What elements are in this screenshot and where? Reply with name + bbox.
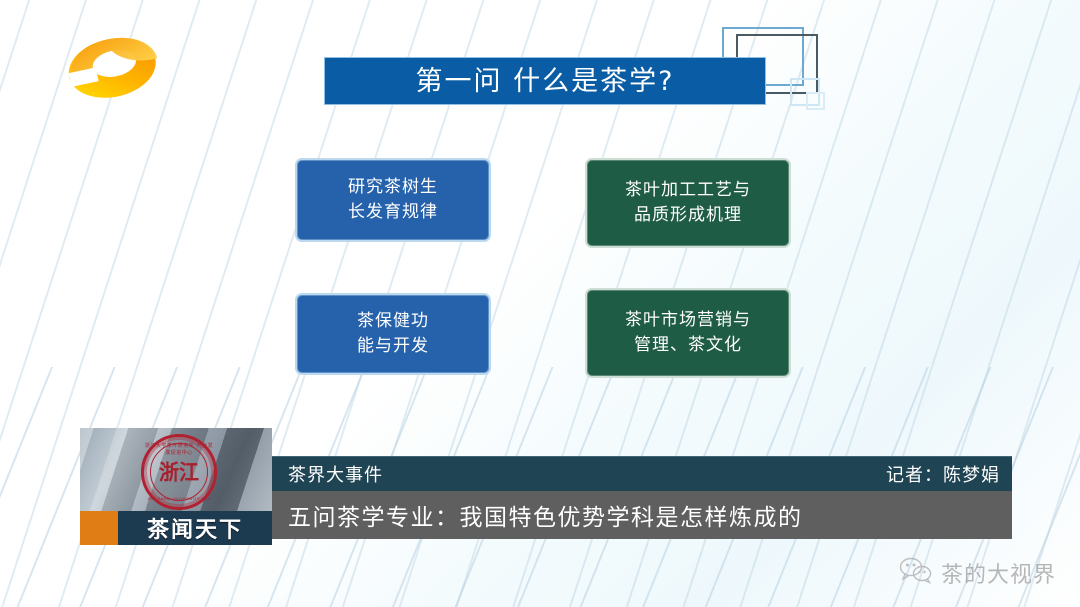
news-lower-third: 浙江大学茶叶研究所·产业发展促进中心 浙江 ZHEJIANG UNIVERSIT… <box>80 428 1012 546</box>
red-seal-stamp: 浙江大学茶叶研究所·产业发展促进中心 浙江 ZHEJIANG UNIVERSIT… <box>141 434 217 510</box>
wechat-icon <box>899 556 933 589</box>
news-headline-bar: 五问茶学专业：我国特色优势学科是怎样炼成的 <box>272 491 1012 539</box>
watermark-text: 茶的大视界 <box>941 557 1056 589</box>
news-category-label: 茶界大事件 <box>288 461 383 487</box>
news-category-bar: 茶界大事件 记者：陈梦娟 <box>272 456 1012 491</box>
slide-canvas: 第一问 什么是茶学? 研究茶树生 长发育规律 茶叶加工工艺与 品质形成机理 茶保… <box>0 0 1080 607</box>
wechat-watermark: 茶的大视界 <box>899 556 1056 589</box>
topic-box-processing-quality: 茶叶加工工艺与 品质形成机理 <box>585 158 791 248</box>
program-name-bar: 茶闻天下 <box>118 511 272 545</box>
seal-bottom-text: ZHEJIANG UNIVERSITY TEA <box>144 496 214 501</box>
topic-box-label: 研究茶树生 长发育规律 <box>342 175 444 224</box>
program-name-label: 茶闻天下 <box>147 512 243 544</box>
topic-box-label: 茶保健功 能与开发 <box>351 309 435 358</box>
topic-box-marketing-culture: 茶叶市场营销与 管理、茶文化 <box>585 288 791 378</box>
page-title: 第一问 什么是茶学? <box>416 68 675 95</box>
seal-inner-ring: 浙江 <box>150 443 208 501</box>
news-program-logo: 浙江大学茶叶研究所·产业发展促进中心 浙江 ZHEJIANG UNIVERSIT… <box>80 428 272 545</box>
topic-box-label: 茶叶加工工艺与 品质形成机理 <box>619 178 757 227</box>
topic-box-health-function: 茶保健功 能与开发 <box>295 293 491 375</box>
topic-box-label: 茶叶市场营销与 管理、茶文化 <box>619 308 757 357</box>
seal-text: 浙江 <box>159 462 199 483</box>
news-reporter-label: 记者：陈梦娟 <box>886 461 1000 487</box>
decorative-square-small <box>790 78 820 106</box>
slide-title-banner: 第一问 什么是茶学? <box>325 58 765 104</box>
university-swoosh-logo <box>56 24 168 110</box>
news-headline-label: 五问茶学专业：我国特色优势学科是怎样炼成的 <box>288 498 803 532</box>
news-text-block: 茶界大事件 记者：陈梦娟 五问茶学专业：我国特色优势学科是怎样炼成的 <box>272 456 1012 546</box>
topic-box-research-tea-plant: 研究茶树生 长发育规律 <box>295 158 491 242</box>
orange-accent-block <box>80 511 118 545</box>
decorative-square-tiny <box>806 92 825 110</box>
